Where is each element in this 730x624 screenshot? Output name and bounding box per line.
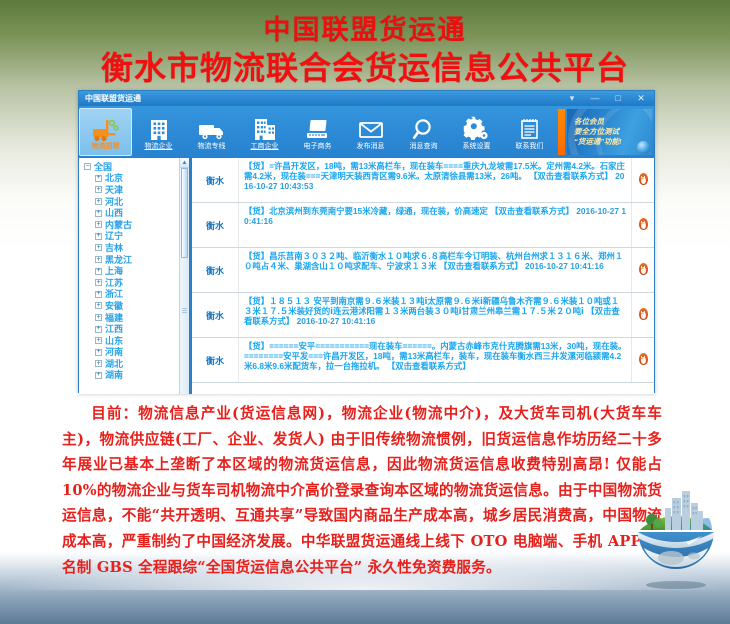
- tree-node-label: 浙江: [105, 289, 123, 299]
- tree-node-13[interactable]: +江西: [84, 323, 189, 335]
- row-message[interactable]: 【货】１８５１３ 安平到南京需９.６米装１３吨ⅰ太原需９.６米ⅰ新疆乌鲁木齐需９…: [239, 293, 631, 337]
- tree-expander-icon[interactable]: +: [95, 302, 102, 309]
- computer-icon: [303, 114, 333, 142]
- tree-expander-icon[interactable]: +: [95, 221, 102, 228]
- truck-icon: [197, 114, 227, 142]
- search-icon: [411, 114, 437, 142]
- row-message-text: 【货】北京滨州到东莞南宁要15米冷藏，绿通，现在装，价高速定 【双击查看联系方式…: [244, 206, 574, 216]
- row-message-text: 【货】======安平===========现在装车======。内蒙古赤峰市克…: [244, 341, 626, 371]
- tree-node-label: 安徽: [105, 301, 123, 311]
- tree-node-label: 江西: [105, 324, 123, 334]
- toolbar-item-message-query[interactable]: 消息查询: [397, 106, 450, 158]
- tree-expander-icon[interactable]: +: [95, 268, 102, 275]
- tree-expander-icon[interactable]: +: [95, 256, 102, 263]
- table-row[interactable]: 衡水【货】=许昌开发区，18吨，需13米高栏车，现在装车====重庆九龙坡需17…: [192, 158, 654, 203]
- tree-expander-icon[interactable]: −: [84, 163, 91, 170]
- tree-node-label: 辽宁: [105, 231, 123, 241]
- tree-node-10[interactable]: +浙江: [84, 289, 189, 301]
- description-paragraph: 目前：物流信息产业(货运信息网)，物流企业(物流中介)，及大货车司机(大货车车主…: [62, 401, 662, 580]
- row-city: 衡水: [192, 248, 239, 292]
- table-row[interactable]: 衡水【货】昌乐莒南３０３２吨、临沂衡水１０吨求６.８高栏车今订明装、杭州台州求１…: [192, 248, 654, 293]
- toolbar-label: 电子商务: [304, 143, 332, 151]
- window-titlebar: 中国联盟货运通 ▾ — □ ✕: [79, 91, 654, 106]
- tree-node-16[interactable]: +湖北: [84, 358, 189, 370]
- promo-line-1: 各位会员: [574, 117, 652, 127]
- tree-node-label: 湖南: [105, 370, 123, 380]
- tree-node-6[interactable]: +吉林: [84, 242, 189, 254]
- row-message[interactable]: 【货】昌乐莒南３０３２吨、临沂衡水１０吨求６.８高栏车今订明装、杭州台州求１３１…: [239, 248, 631, 292]
- tree-expander-icon[interactable]: +: [95, 279, 102, 286]
- promo-globe-icon: [637, 141, 650, 154]
- building-icon: [146, 114, 172, 142]
- tree-node-label: 河北: [105, 197, 123, 207]
- tree-node-5[interactable]: +辽宁: [84, 231, 189, 243]
- tree-node-11[interactable]: +安徽: [84, 300, 189, 312]
- list-rows: 衡水【货】=许昌开发区，18吨，需13米高栏车，现在装车====重庆九龙坡需17…: [192, 158, 654, 383]
- tree-node-label: 天津: [105, 185, 123, 195]
- tree-node-2[interactable]: +河北: [84, 196, 189, 208]
- page-title-line2: 衡水市物流联合会货运信息公共平台: [0, 48, 730, 88]
- envelope-icon: [357, 114, 385, 142]
- maximize-icon[interactable]: □: [607, 92, 629, 105]
- row-message[interactable]: 【货】=许昌开发区，18吨，需13米高栏车，现在装车====重庆九龙坡需17.5…: [239, 158, 631, 202]
- row-city: 衡水: [192, 158, 239, 202]
- tree-node-4[interactable]: +内蒙古: [84, 219, 189, 231]
- row-city: 衡水: [192, 293, 239, 337]
- application-window: 中国联盟货运通 ▾ — □ ✕: [78, 90, 655, 393]
- toolbar-item-industry-company[interactable]: 工商企业: [238, 106, 291, 158]
- globe-illustration: [628, 486, 724, 590]
- tree-expander-icon[interactable]: +: [95, 360, 102, 367]
- promo-banner[interactable]: 各位会员 要全方位测试 “货运通”功能!: [567, 109, 652, 155]
- tree-node-label: 内蒙古: [105, 220, 132, 230]
- main-toolbar: 物流招聘 物流企业: [79, 106, 654, 158]
- tree-expander-icon[interactable]: +: [95, 186, 102, 193]
- qq-penguin-icon[interactable]: [631, 203, 654, 247]
- window-body: − 全国 +北京+天津+河北+山西+内蒙古+辽宁+吉林+黑龙江+上海+江苏+浙江…: [79, 158, 654, 394]
- qq-penguin-icon[interactable]: [631, 293, 654, 337]
- toolbar-item-logistics-recruit[interactable]: 物流招聘: [79, 108, 132, 156]
- page-root: 中国联盟货运通 衡水市物流联合会货运信息公共平台 中国联盟货运通 ▾ — □ ✕: [0, 0, 730, 624]
- tree-node-label: 山西: [105, 208, 123, 218]
- toolbar-label: 消息查询: [410, 143, 438, 151]
- tree-node-15[interactable]: +河南: [84, 347, 189, 359]
- toolbar-label: 系统设置: [463, 143, 491, 151]
- tree-node-14[interactable]: +山东: [84, 335, 189, 347]
- dropdown-icon[interactable]: ▾: [561, 92, 583, 105]
- row-timestamp: 2016-10-27 10:41:16: [525, 261, 604, 271]
- tree-scrollbar[interactable]: ▲: [179, 158, 189, 394]
- tree-node-label: 吉林: [105, 243, 123, 253]
- tree-node-label: 全国: [94, 162, 112, 172]
- tree-node-label: 河南: [105, 347, 123, 357]
- row-message-text: 【货】=许昌开发区，18吨，需13米高栏车，现在装车====重庆九龙坡需17.5…: [244, 161, 625, 181]
- toolbar-divider: [558, 109, 565, 155]
- table-row[interactable]: 衡水【货】======安平===========现在装车======。内蒙古赤峰…: [192, 338, 654, 383]
- tree-expander-icon[interactable]: +: [95, 291, 102, 298]
- tree-expander-icon[interactable]: +: [95, 198, 102, 205]
- row-message[interactable]: 【货】北京滨州到东莞南宁要15米冷藏，绿通，现在装，价高速定 【双击查看联系方式…: [239, 203, 631, 247]
- freight-message-list[interactable]: 衡水【货】=许昌开发区，18吨，需13米高栏车，现在装车====重庆九龙坡需17…: [190, 158, 654, 394]
- tree-expander-icon[interactable]: +: [95, 337, 102, 344]
- scrollbar-thumb[interactable]: [181, 168, 188, 258]
- region-tree-panel: − 全国 +北京+天津+河北+山西+内蒙古+辽宁+吉林+黑龙江+上海+江苏+浙江…: [79, 158, 190, 394]
- toolbar-label: 物流企业: [145, 143, 173, 151]
- toolbar-label: 物流招聘: [92, 143, 120, 151]
- tree-node-3[interactable]: +山西: [84, 207, 189, 219]
- tree-node-label: 江苏: [105, 278, 123, 288]
- toolbar-label: 物流专线: [198, 143, 226, 151]
- tree-expander-icon[interactable]: +: [95, 314, 102, 321]
- tree-node-label: 上海: [105, 266, 123, 276]
- tree-node-7[interactable]: +黑龙江: [84, 254, 189, 266]
- tree-node-1[interactable]: +天津: [84, 184, 189, 196]
- toolbar-label: 联系我们: [516, 143, 544, 151]
- region-tree: − 全国 +北京+天津+河北+山西+内蒙古+辽宁+吉林+黑龙江+上海+江苏+浙江…: [79, 158, 189, 381]
- tree-node-label: 北京: [105, 173, 123, 183]
- forklift-icon: [91, 114, 121, 142]
- table-row[interactable]: 衡水【货】北京滨州到东莞南宁要15米冷藏，绿通，现在装，价高速定 【双击查看联系…: [192, 203, 654, 248]
- minimize-icon[interactable]: —: [584, 92, 606, 105]
- tree-node-9[interactable]: +江苏: [84, 277, 189, 289]
- tree-expander-icon[interactable]: +: [95, 233, 102, 240]
- toolbar-item-system-settings[interactable]: 系统设置: [450, 106, 503, 158]
- qq-penguin-icon[interactable]: [631, 248, 654, 292]
- row-message[interactable]: 【货】======安平===========现在装车======。内蒙古赤峰市克…: [239, 338, 631, 382]
- row-timestamp: 2016-10-27 10:41:16: [297, 316, 376, 326]
- table-row[interactable]: 衡水【货】１８５１３ 安平到南京需９.６米装１３吨ⅰ太原需９.６米ⅰ新疆乌鲁木齐…: [192, 293, 654, 338]
- toolbar-item-ecommerce[interactable]: 电子商务: [291, 106, 344, 158]
- scrollbar-grip: [182, 308, 187, 314]
- tree-expander-icon[interactable]: +: [95, 372, 102, 379]
- qq-penguin-icon[interactable]: [631, 338, 654, 382]
- toolbar-item-logistics-line[interactable]: 物流专线: [185, 106, 238, 158]
- tree-expander-icon[interactable]: +: [95, 244, 102, 251]
- tree-expander-icon[interactable]: +: [95, 326, 102, 333]
- row-city: 衡水: [192, 338, 239, 382]
- tree-children: +北京+天津+河北+山西+内蒙古+辽宁+吉林+黑龙江+上海+江苏+浙江+安徽+福…: [84, 173, 189, 382]
- tree-node-12[interactable]: +福建: [84, 312, 189, 324]
- tree-node-0[interactable]: +北京: [84, 173, 189, 185]
- tree-node-label: 福建: [105, 313, 123, 323]
- qq-penguin-icon[interactable]: [631, 158, 654, 202]
- window-title: 中国联盟货运通: [85, 94, 141, 103]
- tree-node-8[interactable]: +上海: [84, 265, 189, 277]
- tree-expander-icon[interactable]: +: [95, 175, 102, 182]
- toolbar-item-contact-us[interactable]: 联系我们: [503, 106, 556, 158]
- tree-node-17[interactable]: +湖南: [84, 370, 189, 382]
- toolbar-item-logistics-company[interactable]: 物流企业: [132, 106, 185, 158]
- toolbar-label: 工商企业: [251, 143, 279, 151]
- page-title-block: 中国联盟货运通 衡水市物流联合会货运信息公共平台: [0, 14, 730, 88]
- row-city: 衡水: [192, 203, 239, 247]
- tree-node-label: 湖北: [105, 359, 123, 369]
- tree-node-root[interactable]: − 全国: [84, 161, 189, 173]
- tree-expander-icon[interactable]: +: [95, 210, 102, 217]
- gear-icon: [463, 114, 491, 142]
- office-icon: [251, 114, 279, 142]
- toolbar-item-publish-message[interactable]: 发布消息: [344, 106, 397, 158]
- notepad-icon: [517, 114, 543, 142]
- page-title-line1: 中国联盟货运通: [0, 14, 730, 48]
- tree-expander-icon[interactable]: +: [95, 349, 102, 356]
- toolbar-label: 发布消息: [357, 143, 385, 151]
- tree-node-label: 黑龙江: [105, 255, 132, 265]
- tree-node-label: 山东: [105, 336, 123, 346]
- promo-line-2: 要全方位测试: [574, 127, 652, 137]
- close-icon[interactable]: ✕: [630, 92, 652, 105]
- scroll-up-icon[interactable]: ▲: [180, 158, 189, 168]
